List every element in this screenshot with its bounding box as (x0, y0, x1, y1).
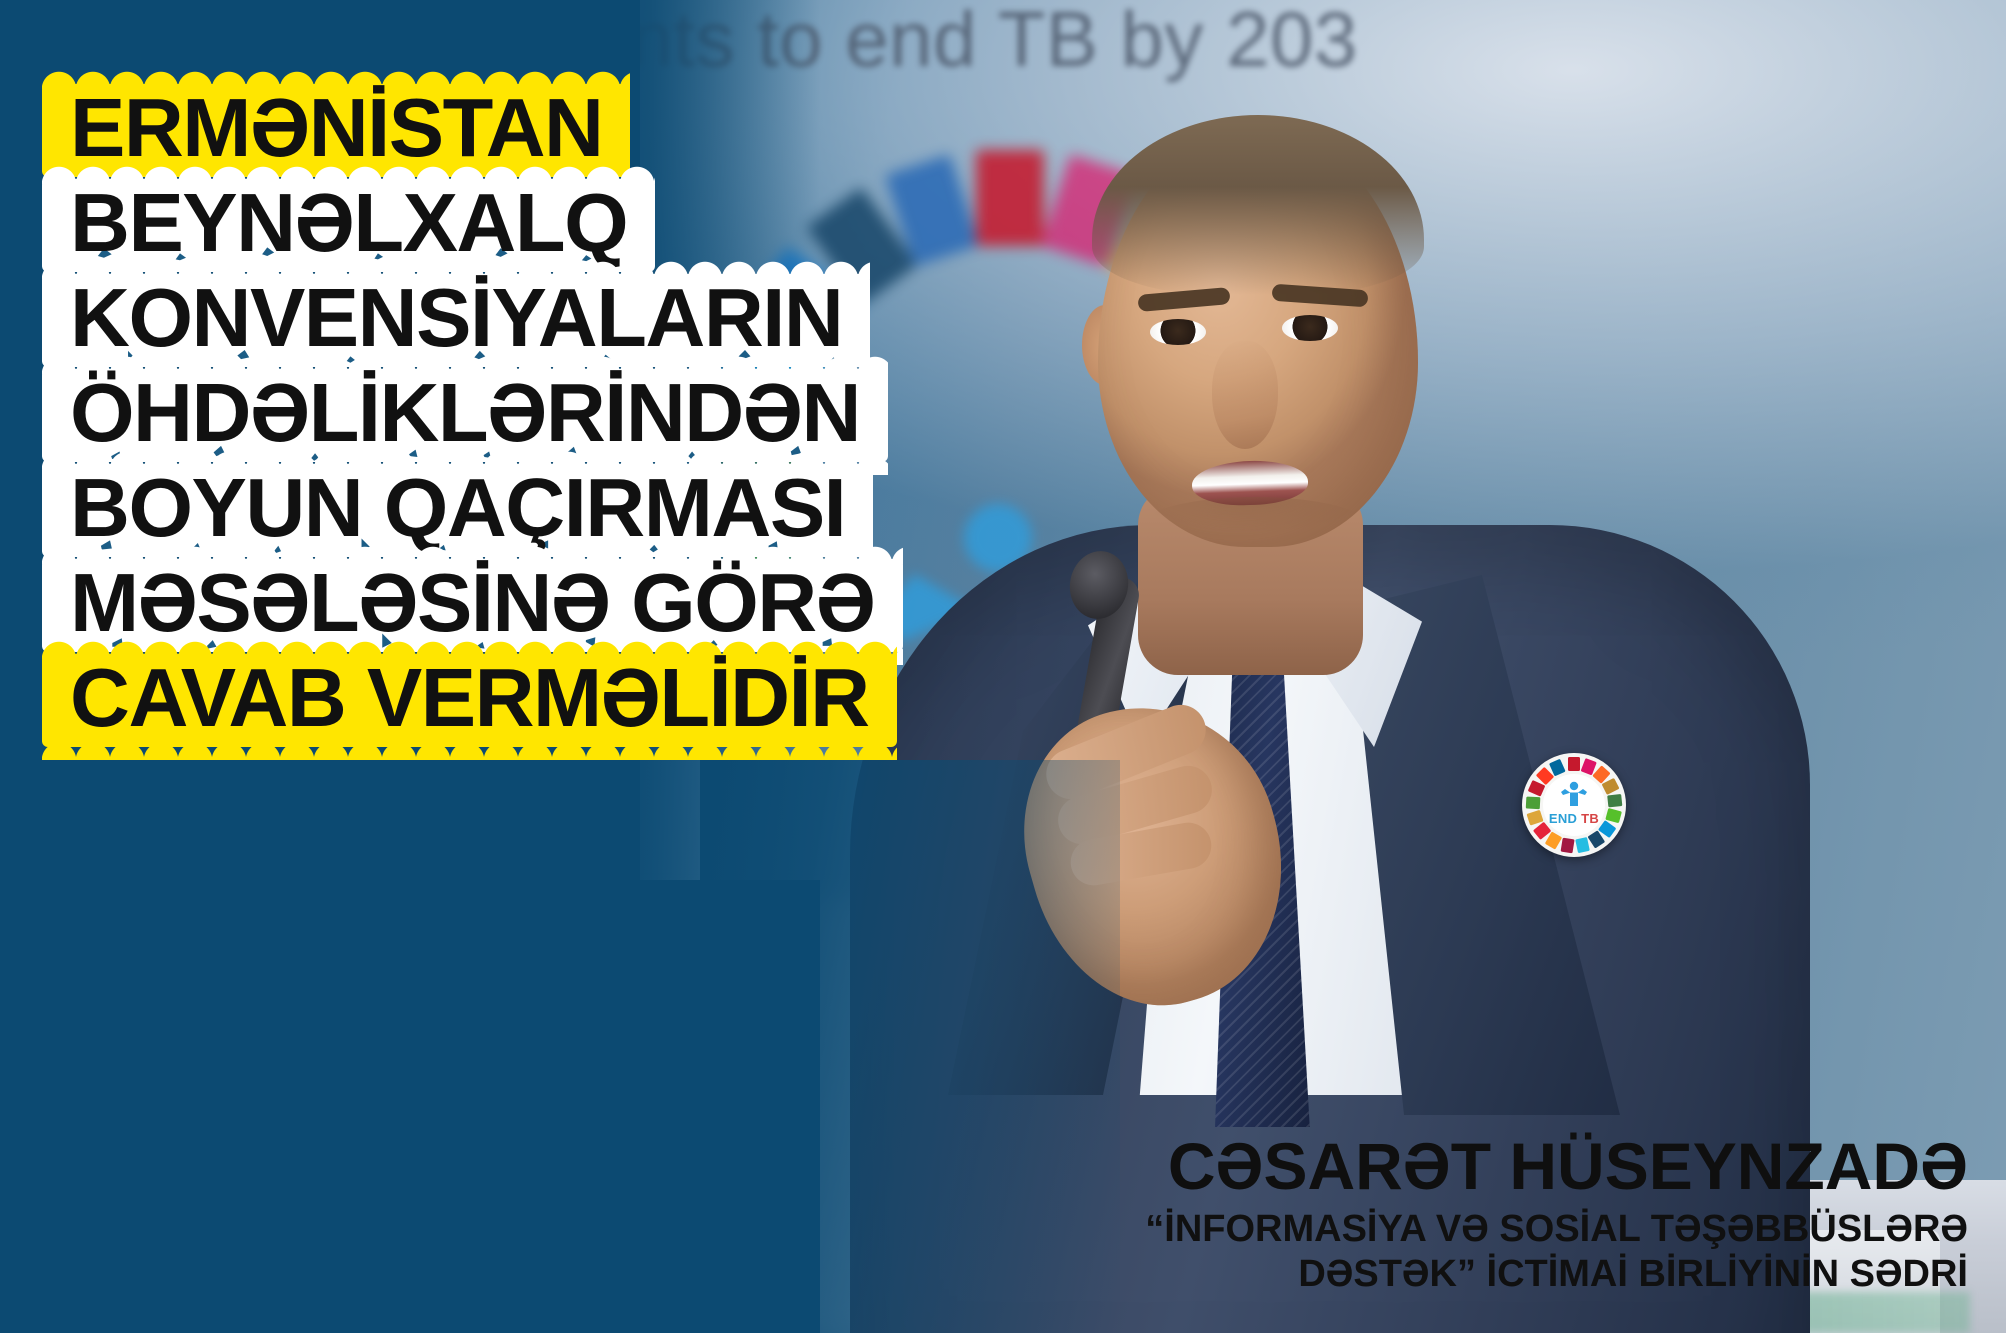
speaker-role-line-1: “İNFORMASİYA VƏ SOSİAL TƏŞƏBBÜSLƏRƏ (908, 1207, 1968, 1252)
headline-line-4: ÖHDƏLİKLƏRİNDƏN (56, 369, 874, 462)
speaker-caption: CƏSARƏT HÜSEYNZADƏ “İNFORMASİYA VƏ SOSİA… (908, 1133, 1968, 1297)
news-graphic-canvas: ments to end TB by 203 (0, 0, 2006, 1333)
speaker-role-line-2: DƏSTƏK” İCTİMAİ BİRLİYİNİN SƏDRİ (908, 1252, 1968, 1297)
pin-person-icon (1560, 781, 1588, 807)
speaker-name: CƏSARƏT HÜSEYNZADƏ (908, 1133, 1968, 1199)
headline-line-7: CAVAB VERMƏLİDİR (56, 654, 883, 747)
headline-block: ERMƏNİSTAN BEYNƏLXALQ (56, 84, 1076, 749)
headline-line-2: BEYNƏLXALQ (56, 179, 641, 272)
pin-label: END TB (1522, 811, 1626, 826)
headline-line-3: KONVENSİYALARIN (56, 274, 856, 367)
speaker-hair (1092, 115, 1424, 295)
speaker-eye-right (1282, 315, 1338, 341)
headline-line-6: MƏSƏLƏSİNƏ GÖRƏ (56, 559, 889, 652)
speaker-eye-left (1150, 319, 1206, 345)
end-tb-pin-icon: END TB (1522, 753, 1626, 857)
speaker-nose (1212, 341, 1278, 449)
navy-background-bottom (0, 880, 820, 1333)
speaker-chin-shadow (1140, 497, 1370, 557)
headline-line-5: BOYUN QAÇIRMASI (56, 464, 859, 557)
headline-line-1: ERMƏNİSTAN (56, 84, 616, 177)
